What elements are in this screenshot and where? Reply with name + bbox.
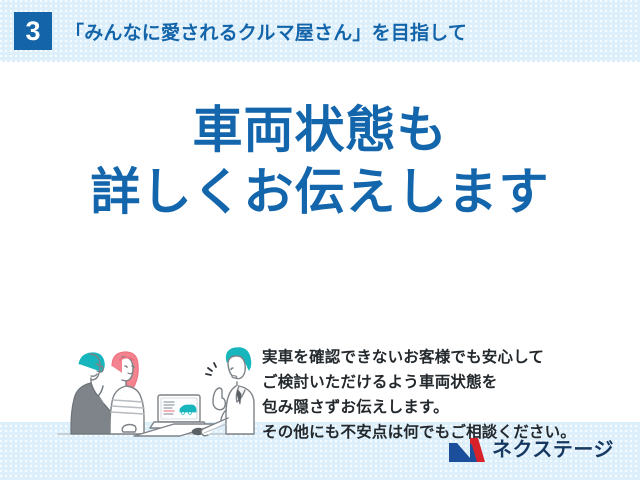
nexstage-n-logo-icon <box>448 437 486 463</box>
promo-banner: 3 「みんなに愛されるクルマ屋さん」を目指して 車両状態も 詳しくお伝えします <box>0 0 640 480</box>
headline-line-1: 車両状態も <box>0 102 640 158</box>
step-number-badge: 3 <box>14 12 52 50</box>
brand-logo-text: ネクステージ <box>492 440 614 460</box>
content-panel: 車両状態も 詳しくお伝えします <box>0 62 640 422</box>
page-title: 車両状態も 詳しくお伝えします <box>0 102 640 220</box>
header-title: 「みんなに愛されるクルマ屋さん」を目指して <box>65 18 467 45</box>
description-line-3: 包み隠さずお伝えします。 <box>262 395 612 420</box>
banner-footer: ネクステージ <box>0 422 640 480</box>
headline-line-2: 詳しくお伝えします <box>0 164 640 220</box>
description-line-2: ご検討いただけるよう車両状態を <box>262 370 612 395</box>
description-line-1: 実車を確認できないお客様でも安心して <box>262 345 612 370</box>
banner-header: 3 「みんなに愛されるクルマ屋さん」を目指して <box>0 0 640 62</box>
brand-logo: ネクステージ <box>448 435 614 465</box>
